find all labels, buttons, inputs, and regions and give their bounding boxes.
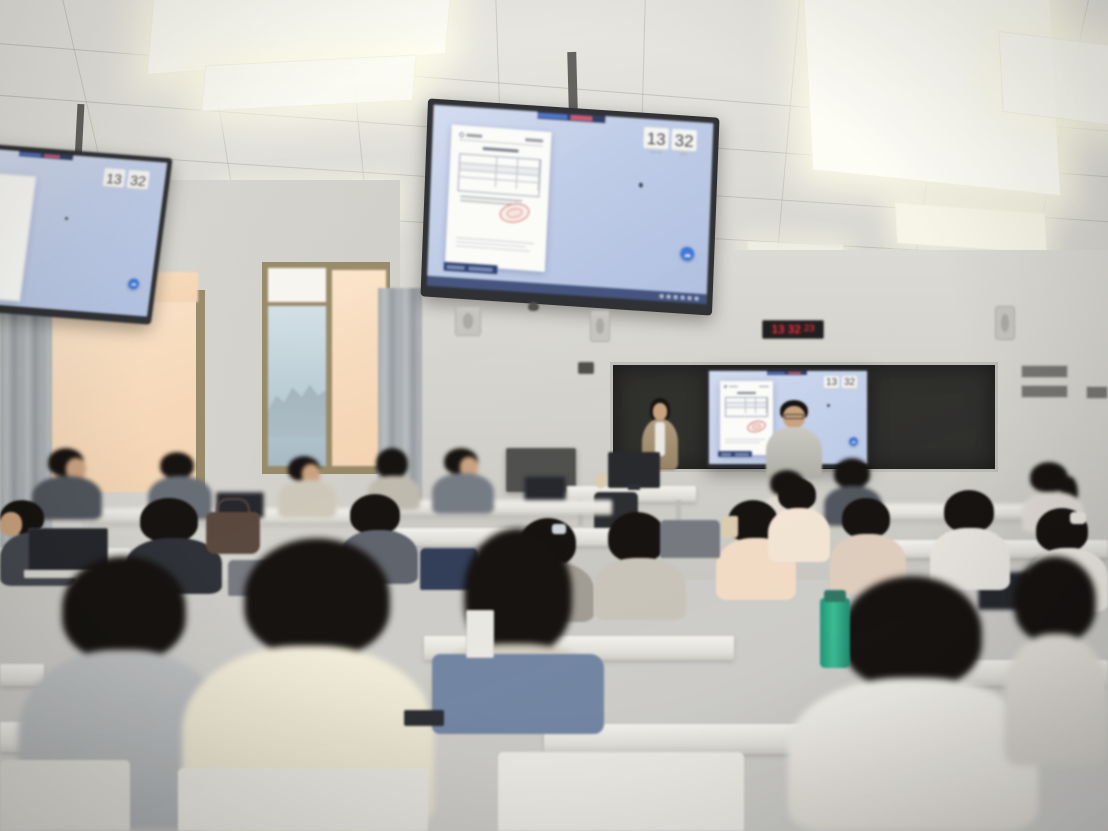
document-title	[483, 147, 519, 152]
emblem-icon	[724, 385, 738, 388]
denim-jacket	[432, 654, 604, 734]
led-minutes: 32	[788, 324, 801, 335]
wall-speaker-left	[455, 306, 481, 336]
thermos-cap	[824, 590, 846, 602]
led-wall-clock: 13 32 23	[762, 320, 824, 339]
paper-cup	[596, 474, 606, 488]
clock-hour-tile: 13	[102, 168, 125, 188]
taskbar-icon[interactable]	[660, 294, 664, 298]
podium-monitor	[608, 452, 660, 488]
classroom-scene: 13 32 ☁	[0, 0, 1108, 831]
attendee	[768, 478, 830, 562]
chair[interactable]	[660, 520, 720, 558]
toolbar-alert[interactable]	[788, 372, 801, 374]
wall-speaker-right	[590, 310, 610, 342]
emblem-icon	[459, 132, 482, 139]
document-preview[interactable]	[0, 170, 36, 301]
taskbar-icon[interactable]	[688, 296, 692, 300]
head	[653, 403, 667, 420]
toolbar-alert[interactable]	[44, 154, 60, 158]
clock-minute-tile: 32	[126, 170, 149, 190]
document-preview[interactable]	[445, 124, 552, 271]
blouse	[655, 422, 665, 456]
attendee	[278, 456, 336, 518]
cloud-icon[interactable]: ☁	[127, 278, 139, 290]
wall-panel	[1021, 385, 1068, 398]
display-screen[interactable]: 13 HOUR 32 MIN ☁	[427, 105, 713, 304]
display-mount-main	[567, 52, 578, 110]
monitor-stand	[628, 484, 640, 490]
action-button-secondary[interactable]	[735, 453, 749, 456]
taskbar-icon[interactable]	[681, 295, 685, 299]
action-button-primary[interactable]	[721, 453, 731, 456]
ceiling-display-left[interactable]: 13 32 ☁	[0, 143, 173, 325]
laptop[interactable]	[466, 610, 494, 658]
screen-cursor	[65, 217, 68, 220]
led-hours: 13	[771, 324, 784, 335]
screen-clock-widget: 13 32	[102, 168, 149, 190]
handbag-handle	[216, 498, 250, 516]
hair-clip	[1070, 512, 1086, 524]
clock-hour-tile: 13	[824, 376, 839, 389]
board-toolbar[interactable]	[767, 371, 807, 375]
board-clock-widget: 13 32	[824, 376, 857, 389]
chair[interactable]	[178, 768, 428, 831]
screen-clock-widget: 13 HOUR 32 MIN	[643, 127, 697, 157]
screen-cursor	[639, 183, 643, 188]
wall-camera	[578, 362, 594, 374]
clock-minute-label: MIN	[671, 151, 696, 158]
toolbar-tab[interactable]	[19, 152, 41, 157]
coffee-cup	[722, 516, 738, 538]
screen-cursor	[827, 404, 830, 407]
green-thermos	[820, 598, 850, 668]
taskbar-icon[interactable]	[674, 295, 678, 299]
cloud-icon[interactable]: ☁	[849, 437, 858, 446]
attendee-foreground	[1004, 556, 1108, 766]
display-screen[interactable]: 13 32 ☁	[0, 149, 167, 317]
toolbar-alert[interactable]	[570, 115, 592, 121]
hillside-view	[268, 370, 326, 437]
clock-minute-tile: 32	[671, 129, 697, 153]
document-action-bar[interactable]	[718, 451, 752, 457]
toolbar-tab[interactable]	[537, 113, 567, 119]
laptop[interactable]	[524, 476, 566, 500]
red-seal-stamp	[745, 419, 766, 434]
action-button-primary[interactable]	[447, 264, 465, 269]
toolbar-tab[interactable]	[767, 372, 785, 374]
wall-speaker-far-right	[995, 306, 1015, 340]
taskbar-icon[interactable]	[695, 296, 699, 300]
wall-panel	[1086, 386, 1108, 399]
action-button-secondary[interactable]	[469, 266, 493, 272]
clock-hour-tile: 13	[643, 127, 669, 151]
clock-hour-label: HOUR	[643, 149, 668, 156]
document-header-right	[525, 139, 543, 143]
taskbar-icon[interactable]	[667, 295, 671, 299]
wall-panel	[1021, 365, 1068, 378]
led-seconds: 23	[804, 325, 815, 334]
chair[interactable]	[0, 760, 130, 831]
window-glass-center	[268, 306, 326, 466]
cloud-icon[interactable]: ☁	[680, 246, 695, 261]
presenter-man	[766, 400, 822, 478]
ceiling-camera	[528, 302, 539, 311]
attendee	[930, 490, 1010, 590]
attendee	[432, 448, 494, 514]
desk-row-back	[398, 500, 612, 515]
smartphone	[404, 710, 444, 726]
red-seal-stamp	[498, 201, 531, 225]
ceiling-display-main[interactable]: 13 HOUR 32 MIN ☁	[420, 98, 719, 315]
glasses-icon	[784, 414, 804, 419]
clock-minute-tile: 32	[842, 376, 857, 389]
chair[interactable]	[498, 752, 744, 831]
window-blind-upper-center	[268, 268, 326, 302]
document-table	[458, 153, 542, 197]
